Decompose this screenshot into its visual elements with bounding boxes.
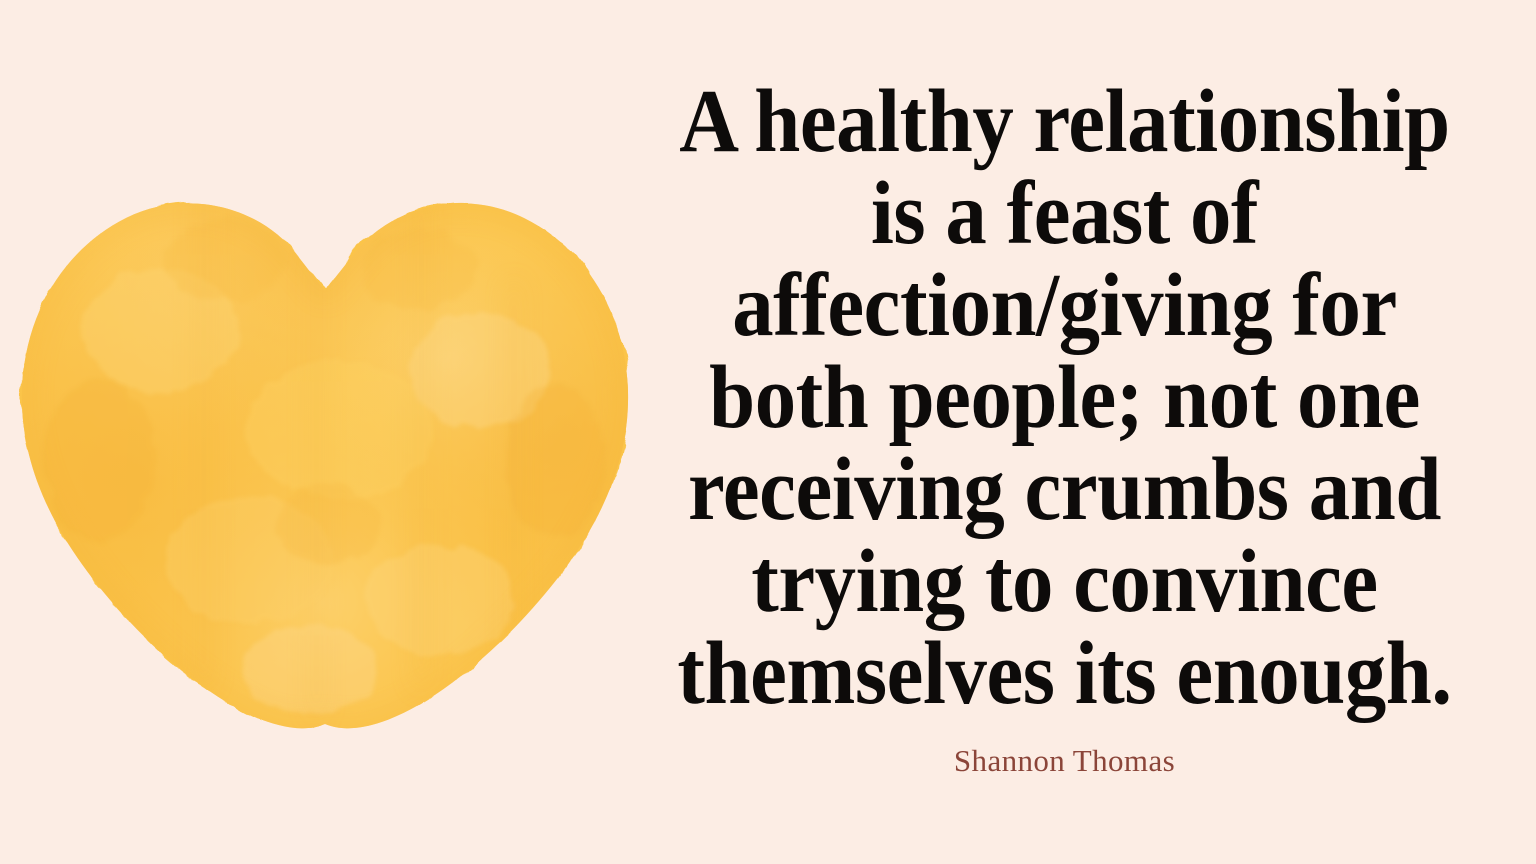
quote-text: A healthy relationship is a feast of aff… xyxy=(648,76,1481,720)
watercolor-heart-illustration xyxy=(10,130,635,735)
attribution-row: Shannon Thomas xyxy=(612,744,1517,778)
heart-watercolor-washes xyxy=(10,130,635,735)
quote-author: Shannon Thomas xyxy=(954,744,1175,778)
quote-block: A healthy relationship is a feast of aff… xyxy=(612,76,1517,720)
quote-poster: A healthy relationship is a feast of aff… xyxy=(0,0,1536,864)
